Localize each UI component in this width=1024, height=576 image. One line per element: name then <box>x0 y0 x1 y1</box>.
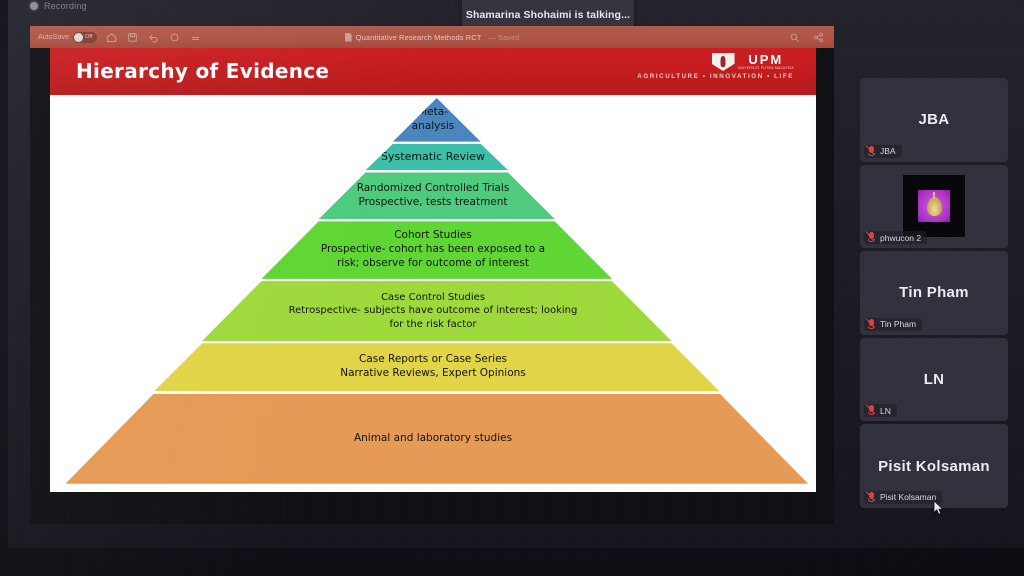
pyramid-tier-5-line-3: for the risk factor <box>390 318 477 331</box>
autosave-state-label: Off <box>85 34 92 40</box>
evidence-pyramid: Meta-analysisSystematic ReviewRandomized… <box>56 98 810 486</box>
document-file-icon <box>345 33 352 42</box>
pyramid-tier-6-line-1: Case Reports or Case Series <box>359 353 507 367</box>
participant-name-badge: LN <box>864 404 897 417</box>
document-saved-status: — Saved <box>489 33 520 42</box>
pyramid-tier-7: Animal and laboratory studies <box>56 394 810 484</box>
upm-wordmark-main: UPM <box>748 53 783 66</box>
participant-tile[interactable]: Pisit KolsamanPisit Kolsaman <box>860 424 1008 508</box>
participant-name: Tin Pham <box>880 319 916 329</box>
participant-tile[interactable]: Tin PhamTin Pham <box>860 251 1008 335</box>
upm-tagline: AGRICULTURE • INNOVATION • LIFE <box>637 73 794 80</box>
participant-initials: Tin Pham <box>899 284 969 301</box>
pyramid-tier-2: Systematic Review <box>56 144 810 171</box>
avatar <box>903 175 965 237</box>
upm-crest-icon <box>712 53 735 71</box>
pyramid-tier-5-line-1: Case Control Studies <box>381 291 485 304</box>
upm-logo: UPM UNIVERSITI PUTRA MALAYSIA AGRICULTUR… <box>637 53 794 80</box>
pyramid-tier-4-line-3: risk; observe for outcome of interest <box>337 257 529 271</box>
participant-initials: JBA <box>919 111 950 128</box>
more-icon[interactable] <box>188 30 202 44</box>
powerpoint-title-bar: AutoSave Off <box>30 26 834 48</box>
mic-muted-icon <box>867 232 876 243</box>
mouse-cursor <box>933 500 944 516</box>
autosave-control[interactable]: AutoSave Off <box>38 32 97 43</box>
participant-initials: LN <box>924 371 945 388</box>
slide-title: Hierarchy of Evidence <box>76 59 329 83</box>
participant-name-badge: JBA <box>864 145 902 158</box>
recording-indicator: Recording <box>30 0 87 13</box>
presentation-slide: Hierarchy of Evidence UPM UNIVERSITI PUT… <box>50 48 816 492</box>
recording-dot-icon <box>30 2 38 10</box>
participant-name-badge: Pisit Kolsaman <box>864 491 942 504</box>
mic-muted-icon <box>867 405 876 416</box>
participant-tile[interactable]: phwucon 2 <box>860 165 1008 249</box>
shared-screen-region: AutoSave Off <box>30 26 834 524</box>
participant-tile[interactable]: JBAJBA <box>860 78 1008 162</box>
participant-rail: JBAJBAphwucon 2Tin PhamTin PhamLNLNPisit… <box>860 78 1008 508</box>
home-icon[interactable] <box>104 30 118 44</box>
photographed-monitor-frame: Recording Shamarina Shohaimi is talking.… <box>0 0 1024 576</box>
recording-label: Recording <box>44 1 87 11</box>
undo-icon[interactable] <box>146 30 160 44</box>
pyramid-tier-4-line-1: Cohort Studies <box>394 229 472 243</box>
participant-name: Pisit Kolsaman <box>880 492 936 502</box>
pyramid-tier-5-line-2: Retrospective- subjects have outcome of … <box>289 304 578 317</box>
pyramid-tier-1: Meta-analysis <box>56 98 810 142</box>
document-title: Quantitative Research Methods RCT <box>356 33 482 42</box>
pyramid-tier-6-line-2: Narrative Reviews, Expert Opinions <box>340 367 526 381</box>
search-icon[interactable] <box>787 30 801 44</box>
pyramid-tier-4: Cohort StudiesProspective- cohort has be… <box>56 221 810 279</box>
participant-name: phwucon 2 <box>880 233 921 243</box>
pyramid-tier-1-line-2: analysis <box>412 120 455 134</box>
participant-initials: Pisit Kolsaman <box>878 458 990 475</box>
redo-icon[interactable] <box>167 30 181 44</box>
pyramid-tier-3-line-2: Prospective, tests treatment <box>358 196 507 210</box>
pyramid-tier-5: Case Control StudiesRetrospective- subje… <box>56 281 810 341</box>
participant-name: LN <box>880 406 891 416</box>
participant-name-badge: phwucon 2 <box>864 231 927 244</box>
pyramid-tier-3-line-1: Randomized Controlled Trials <box>357 182 510 196</box>
autosave-toggle[interactable]: Off <box>73 32 97 43</box>
autosave-label: AutoSave <box>38 34 69 41</box>
video-meeting-screen: Recording Shamarina Shohaimi is talking.… <box>8 0 1024 548</box>
powerpoint-right-toolbar <box>787 26 825 48</box>
upm-wordmark-sub: UNIVERSITI PUTRA MALAYSIA <box>738 66 794 70</box>
autosave-toggle-knob <box>74 33 83 42</box>
pyramid-tier-7-line-1: Animal and laboratory studies <box>354 432 512 446</box>
participant-name-badge: Tin Pham <box>864 318 922 331</box>
pyramid-tier-4-line-2: Prospective- cohort has been exposed to … <box>321 243 545 257</box>
mic-muted-icon <box>867 146 876 157</box>
pyramid-tier-3: Randomized Controlled TrialsProspective,… <box>56 172 810 219</box>
save-icon[interactable] <box>125 30 139 44</box>
participant-name: JBA <box>880 146 896 156</box>
avatar-emblem-icon <box>927 197 942 216</box>
participant-tile[interactable]: LNLN <box>860 338 1008 422</box>
mic-muted-icon <box>867 492 876 503</box>
share-icon[interactable] <box>811 30 825 44</box>
avatar-image <box>918 190 950 222</box>
upm-wordmark: UPM UNIVERSITI PUTRA MALAYSIA <box>738 53 794 70</box>
pyramid-tier-1-line-1: Meta- <box>418 106 448 120</box>
mic-muted-icon <box>867 319 876 330</box>
pyramid-tier-2-line-1: Systematic Review <box>381 150 485 165</box>
pyramid-tier-6: Case Reports or Case SeriesNarrative Rev… <box>56 343 810 391</box>
upm-logo-marks: UPM UNIVERSITI PUTRA MALAYSIA <box>712 53 794 71</box>
active-speaker-text: Shamarina Shohaimi is talking... <box>466 9 630 21</box>
